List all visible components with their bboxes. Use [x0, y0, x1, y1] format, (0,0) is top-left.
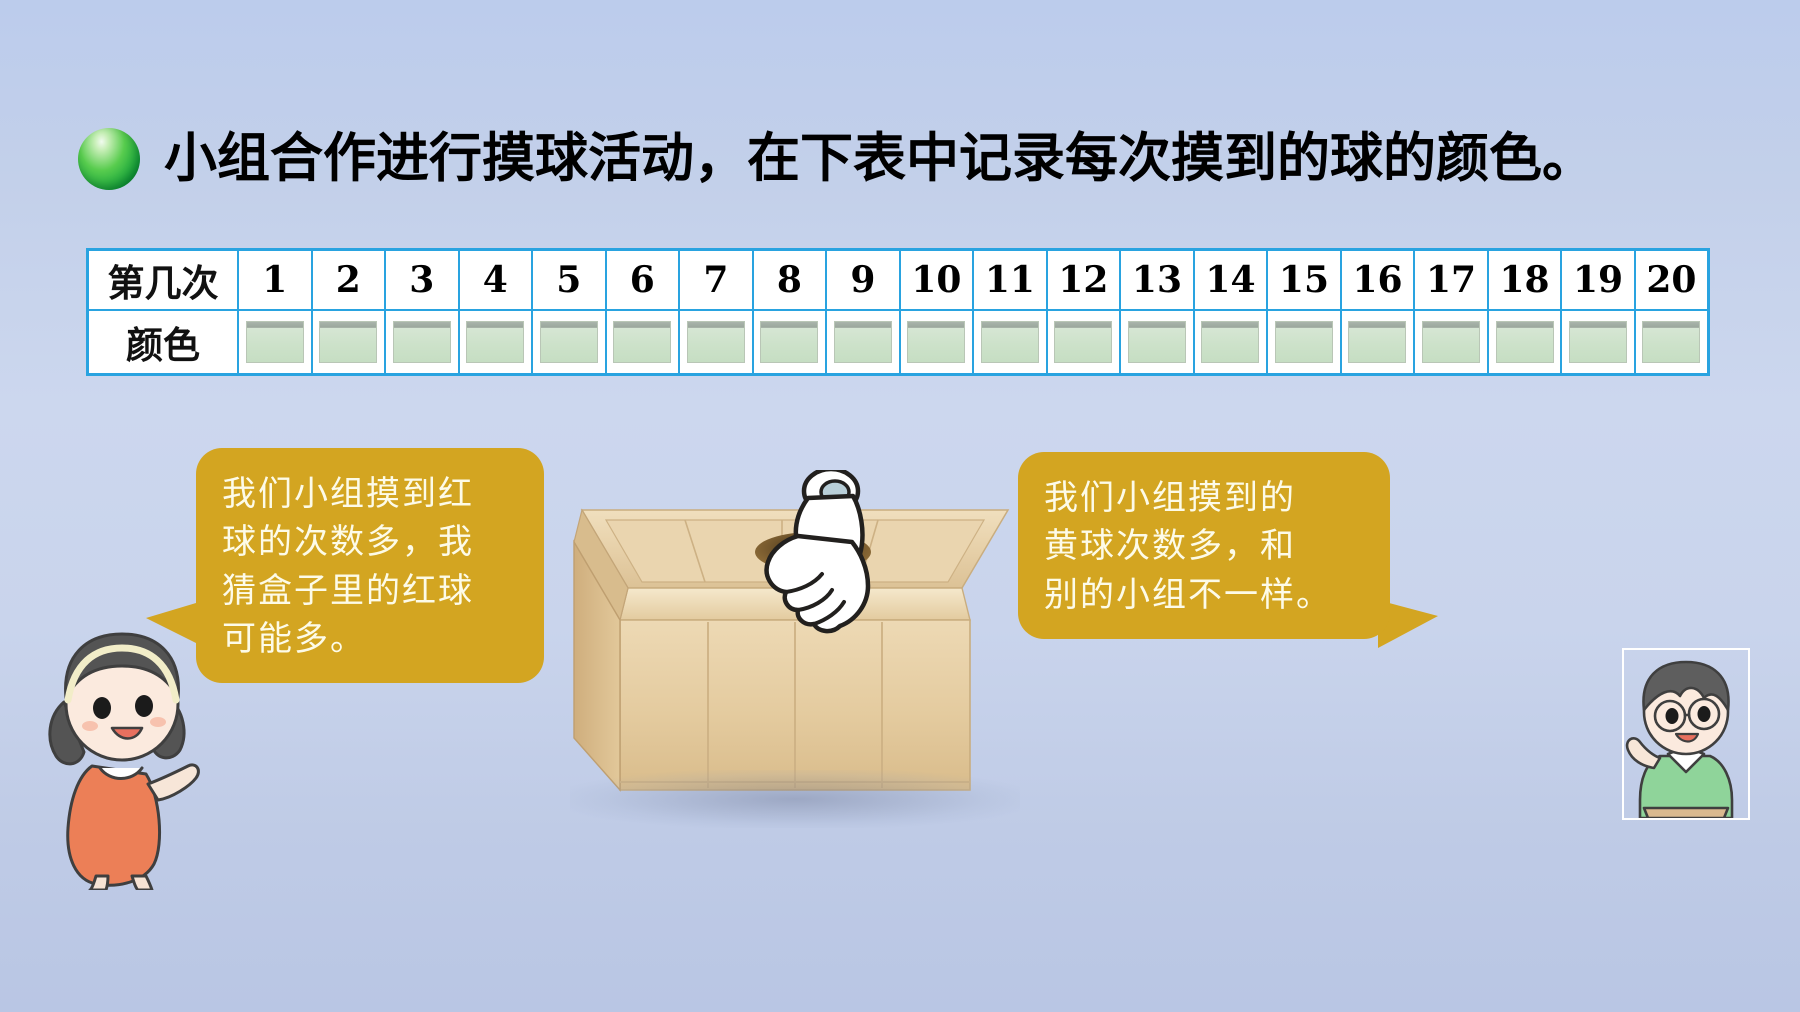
bubble-right-line-3: 别的小组不一样。: [1044, 571, 1364, 619]
trial-cell-8: 8: [753, 250, 827, 311]
color-swatch[interactable]: [613, 321, 671, 363]
girl-svg: [40, 590, 210, 890]
color-swatch[interactable]: [1054, 321, 1112, 363]
bubble-left-line-4: 可能多。: [222, 615, 518, 663]
green-ball-bullet-icon: [78, 128, 140, 190]
bubble-right-line-2: 黄球次数多，和: [1044, 522, 1364, 570]
color-swatch[interactable]: [981, 321, 1039, 363]
trial-cell-9: 9: [826, 250, 900, 311]
trial-cell-13: 13: [1120, 250, 1194, 311]
speech-bubble-left: 我们小组摸到红 球的次数多，我 猜盒子里的红球 可能多。: [196, 448, 544, 683]
color-cell-4[interactable]: [459, 310, 533, 375]
color-swatch[interactable]: [540, 321, 598, 363]
bubble-left-line-2: 球的次数多，我: [222, 518, 518, 566]
color-cell-18[interactable]: [1488, 310, 1562, 375]
table-row-trial: 第几次 1 2 3 4 5 6 7 8 9 10 11 12 13 14 15 …: [88, 250, 1709, 311]
color-cell-16[interactable]: [1341, 310, 1415, 375]
color-cell-19[interactable]: [1561, 310, 1635, 375]
trial-cell-5: 5: [532, 250, 606, 311]
color-swatch[interactable]: [1569, 321, 1627, 363]
color-swatch[interactable]: [1496, 321, 1554, 363]
boy-svg: [1624, 650, 1748, 818]
color-cell-3[interactable]: [385, 310, 459, 375]
row-header-trial: 第几次: [88, 250, 239, 311]
boy-student-illustration: [1622, 648, 1750, 820]
color-swatch[interactable]: [1642, 321, 1700, 363]
color-cell-10[interactable]: [900, 310, 974, 375]
boy-hand: [1627, 738, 1660, 768]
table-row-color: 颜色: [88, 310, 1709, 375]
color-swatch[interactable]: [1422, 321, 1480, 363]
girl-leg-right: [132, 876, 152, 890]
page-title: 小组合作进行摸球活动，在下表中记录每次摸到的球的颜色。: [164, 131, 1595, 187]
color-swatch[interactable]: [760, 321, 818, 363]
slide-canvas: 小组合作进行摸球活动，在下表中记录每次摸到的球的颜色。 第几次 1 2 3 4 …: [0, 0, 1800, 1012]
color-cell-11[interactable]: [973, 310, 1047, 375]
trial-cell-19: 19: [1561, 250, 1635, 311]
trial-cell-16: 16: [1341, 250, 1415, 311]
boy-eye-right: [1698, 706, 1711, 722]
color-swatch[interactable]: [907, 321, 965, 363]
color-swatch[interactable]: [319, 321, 377, 363]
row-header-color: 颜色: [88, 310, 239, 375]
girl-cheek-left: [82, 721, 98, 731]
color-cell-7[interactable]: [679, 310, 753, 375]
boy-shorts: [1644, 808, 1728, 818]
color-swatch[interactable]: [466, 321, 524, 363]
color-cell-1[interactable]: [238, 310, 312, 375]
bubble-right-line-1: 我们小组摸到的: [1044, 474, 1364, 522]
trial-cell-18: 18: [1488, 250, 1562, 311]
girl-eye-right: [135, 695, 153, 717]
color-cell-8[interactable]: [753, 310, 827, 375]
color-cell-12[interactable]: [1047, 310, 1121, 375]
bubble-left-line-1: 我们小组摸到红: [222, 470, 518, 518]
color-cell-14[interactable]: [1194, 310, 1268, 375]
color-cell-2[interactable]: [312, 310, 386, 375]
color-cell-17[interactable]: [1414, 310, 1488, 375]
trial-cell-3: 3: [385, 250, 459, 311]
trial-cell-6: 6: [606, 250, 680, 311]
trial-cell-12: 12: [1047, 250, 1121, 311]
color-cell-13[interactable]: [1120, 310, 1194, 375]
girl-cheek-right: [150, 717, 166, 727]
color-swatch[interactable]: [1128, 321, 1186, 363]
trial-cell-10: 10: [900, 250, 974, 311]
title-row: 小组合作进行摸球活动，在下表中记录每次摸到的球的颜色。: [78, 128, 1595, 190]
girl-eye-left: [93, 697, 111, 719]
ball-record-table: 第几次 1 2 3 4 5 6 7 8 9 10 11 12 13 14 15 …: [86, 248, 1710, 376]
trial-cell-1: 1: [238, 250, 312, 311]
color-swatch[interactable]: [1275, 321, 1333, 363]
color-cell-20[interactable]: [1635, 310, 1709, 375]
color-swatch[interactable]: [687, 321, 745, 363]
trial-cell-4: 4: [459, 250, 533, 311]
trial-cell-11: 11: [973, 250, 1047, 311]
color-swatch[interactable]: [1348, 321, 1406, 363]
boy-eye-left: [1666, 708, 1679, 724]
color-cell-5[interactable]: [532, 310, 606, 375]
ball-box-illustration: [560, 470, 1030, 830]
trial-cell-7: 7: [679, 250, 753, 311]
color-cell-15[interactable]: [1267, 310, 1341, 375]
color-swatch[interactable]: [834, 321, 892, 363]
bubble-left-line-3: 猜盒子里的红球: [222, 567, 518, 615]
color-cell-9[interactable]: [826, 310, 900, 375]
trial-cell-14: 14: [1194, 250, 1268, 311]
color-swatch[interactable]: [393, 321, 451, 363]
trial-cell-15: 15: [1267, 250, 1341, 311]
trial-cell-2: 2: [312, 250, 386, 311]
color-cell-6[interactable]: [606, 310, 680, 375]
trial-cell-20: 20: [1635, 250, 1709, 311]
color-swatch[interactable]: [246, 321, 304, 363]
girl-dress: [68, 766, 160, 885]
girl-hand: [148, 765, 198, 800]
girl-student-illustration: [40, 590, 210, 890]
color-swatch[interactable]: [1201, 321, 1259, 363]
box-ground-shadow: [570, 770, 1020, 828]
speech-bubble-right: 我们小组摸到的 黄球次数多，和 别的小组不一样。: [1018, 452, 1390, 639]
trial-cell-17: 17: [1414, 250, 1488, 311]
